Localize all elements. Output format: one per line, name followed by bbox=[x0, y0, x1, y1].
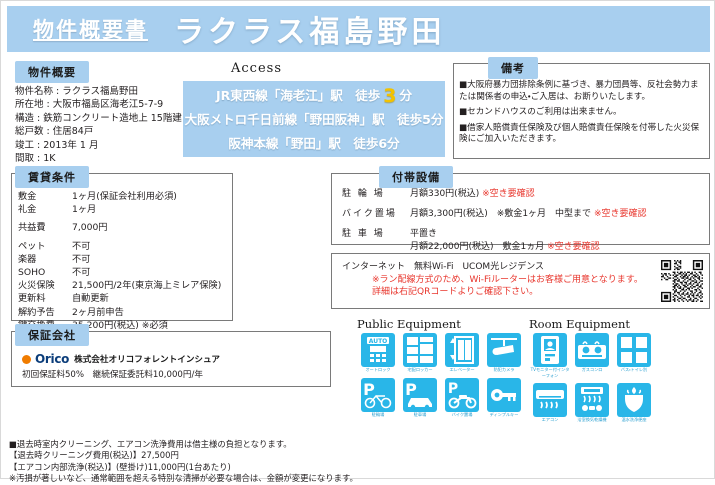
equipment-label: TVモニター付インターフォン bbox=[530, 368, 570, 379]
equipment-label: バイク置場 bbox=[442, 413, 482, 418]
orico-brand-name: Orico bbox=[35, 352, 69, 366]
facilities-table: 駐 輪 場 月額330円(税込) ※空き要確認 バイク置場 月額3,300円(税… bbox=[342, 188, 646, 261]
bicycle-parking-icon: P bbox=[361, 378, 395, 412]
section-tab-remarks: 備考 bbox=[488, 57, 538, 79]
air-conditioner-icon bbox=[533, 383, 567, 417]
row-key: 駐 輪 場 bbox=[342, 188, 410, 208]
equipment-label: 駐輪場 bbox=[358, 413, 398, 418]
page-title: ラクラス福島野田 bbox=[174, 7, 445, 51]
internet-body: インターネット 無料Wi-Fi UCOM光レジデンス ※ラン配線方式のため、Wi… bbox=[342, 261, 643, 299]
footer-line: 【退去時クリーニング費用(税込)】27,500円 bbox=[9, 450, 489, 461]
access-walk-minutes: 3 bbox=[380, 85, 399, 107]
equipment-item: エレベーター bbox=[441, 333, 483, 374]
equipment-label: 防犯カメラ bbox=[484, 368, 524, 373]
access-section: Access JR東西線「海老江」駅 徒歩3分 大阪メトロ千日前線「野田阪神」駅… bbox=[183, 61, 445, 161]
equipment-label: エレベーター bbox=[442, 368, 482, 373]
equipment-item: バス・トイレ別 bbox=[613, 333, 655, 379]
remark-item: ■大阪府暴力団排除条例に基づき、暴力団員等、反社会勢力または関係者の申込・ご入居… bbox=[459, 80, 707, 103]
equipment-item: P バイク置場 bbox=[441, 378, 483, 419]
rental-conditions-panel: 敷金 1ヶ月(保証会社利用必須) 礼金 1ヶ月 共益費 7,000円 ペット 不… bbox=[11, 173, 233, 321]
svg-text:AUTO: AUTO bbox=[369, 338, 388, 345]
row-value: 不可 bbox=[72, 253, 221, 266]
equipment-label: 駐車場 bbox=[400, 413, 440, 418]
svg-text:P: P bbox=[448, 381, 458, 397]
document-header: 物件概要書 ラクラス福島野田 bbox=[7, 6, 710, 52]
equipment-item: ディンプルキー bbox=[483, 378, 525, 419]
table-row: 共益費 7,000円 bbox=[18, 221, 221, 234]
remark-item: ■借家人賠償責任保険及び個人賠償責任保険を付帯した火災保険にご加入いただきます。 bbox=[459, 123, 707, 146]
row-value: 7,000円 bbox=[72, 221, 221, 234]
facility-note: ※空き要確認 bbox=[547, 242, 600, 252]
row-key: 楽器 bbox=[18, 253, 72, 266]
system-kitchen-icon bbox=[575, 333, 609, 367]
equipment-label: ガスコンロ bbox=[572, 368, 612, 373]
row-value: 自動更新 bbox=[72, 292, 221, 305]
overview-line: 総戸数 : 住居84戸 bbox=[15, 125, 182, 138]
access-line-1-prefix: JR東西線「海老江」駅 徒歩 bbox=[216, 88, 380, 103]
section-tab-rent: 賃貸条件 bbox=[15, 166, 89, 188]
row-key: 火災保険 bbox=[18, 279, 72, 292]
footer-notes: ■退去時室内クリーニング、エアコン洗浄費用は借主様の負担となります。 【退去時ク… bbox=[9, 439, 489, 485]
table-row: 更新料 自動更新 bbox=[18, 292, 221, 305]
separate-bath-toilet-icon bbox=[617, 333, 651, 367]
guarantee-brand-row: Orico 株式会社オリコフォレントインシュア bbox=[22, 352, 220, 366]
table-row: 楽器 不可 bbox=[18, 253, 221, 266]
svg-text:P: P bbox=[363, 380, 375, 399]
washlet-icon bbox=[617, 383, 651, 417]
orico-logo-icon bbox=[22, 355, 31, 364]
overview-line: 所在地 : 大阪市福島区海老江5-7-9 bbox=[15, 98, 182, 111]
row-key: ペット bbox=[18, 240, 72, 253]
internet-panel: インターネット 無料Wi-Fi UCOM光レジデンス ※ラン配線方式のため、Wi… bbox=[331, 253, 710, 309]
svg-text:P: P bbox=[405, 380, 417, 399]
motorcycle-parking-icon: P bbox=[445, 378, 479, 412]
access-line-2: 大阪メトロ千日前線「野田阪神」駅 徒歩5分 bbox=[183, 108, 445, 132]
table-row: バイク置場 月額3,300円(税込) ※敷金1ヶ月 中型まで ※空き要確認 bbox=[342, 208, 646, 228]
overview-line: 物件名称 : ラクラス福島野田 bbox=[15, 85, 182, 98]
row-value: 21,500円/2年(東京海上ミレア保険) bbox=[72, 279, 221, 292]
equipment-item: AUTO オートロック bbox=[357, 333, 399, 374]
row-key: 礼金 bbox=[18, 203, 72, 216]
equipment-label: 浴室換気乾燥機 bbox=[572, 418, 612, 423]
auto-lock-icon: AUTO bbox=[361, 333, 395, 367]
equipment-item: TVモニター付インターフォン bbox=[529, 333, 571, 379]
guarantee-fee: 初回保証料50% 継続保証委託料10,000円/年 bbox=[22, 368, 203, 380]
room-equipment-title: Room Equipment bbox=[529, 317, 630, 331]
row-value: 不可 bbox=[72, 266, 221, 279]
table-row: 解約予告 2ヶ月前申告 bbox=[18, 306, 221, 319]
access-line-1-suffix: 分 bbox=[400, 88, 413, 103]
equipment-item: 浴室換気乾燥機 bbox=[571, 383, 613, 424]
internet-note-1: ※ラン配線方式のため、Wi-Fiルーターはお客様ご用意となります。 bbox=[372, 274, 643, 287]
access-box: JR東西線「海老江」駅 徒歩3分 大阪メトロ千日前線「野田阪神」駅 徒歩5分 阪… bbox=[183, 81, 445, 157]
equipment-label: エアコン bbox=[530, 418, 570, 423]
facility-note: ※空き要確認 bbox=[594, 209, 647, 219]
footer-line: 【エアコン内部洗浄(税込)】(壁掛け)11,000円(1台あたり) bbox=[9, 462, 489, 473]
security-camera-icon bbox=[487, 333, 521, 367]
property-summary-sheet: 物件概要書 ラクラス福島野田 物件概要 物件名称 : ラクラス福島野田 所在地 … bbox=[0, 0, 715, 479]
dimple-key-icon bbox=[487, 378, 521, 412]
row-value: 1ヶ月(保証会社利用必須) bbox=[72, 190, 221, 203]
row-key: バイク置場 bbox=[342, 208, 410, 228]
equipment-item: ガスコンロ bbox=[571, 333, 613, 379]
remarks-list: ■大阪府暴力団排除条例に基づき、暴力団員等、反社会勢力または関係者の申込・ご入居… bbox=[459, 80, 707, 150]
guarantee-company-name: 株式会社オリコフォレントインシュア bbox=[74, 353, 220, 365]
rental-conditions-table: 敷金 1ヶ月(保証会社利用必須) 礼金 1ヶ月 共益費 7,000円 ペット 不… bbox=[18, 190, 221, 332]
section-tab-guarantee: 保証会社 bbox=[15, 324, 89, 346]
row-key: 共益費 bbox=[18, 221, 72, 234]
public-equipment-grid: AUTO オートロック 宅配ロッカー エレベー bbox=[357, 333, 525, 422]
row-key: 解約予告 bbox=[18, 306, 72, 319]
facility-price: 月額330円(税込) bbox=[410, 189, 479, 199]
access-line-3: 阪神本線「野田」駅 徒歩6分 bbox=[183, 132, 445, 156]
overview-line: 竣工 : 2013年 1 月 bbox=[15, 139, 182, 152]
equipment-item: P 駐輪場 bbox=[357, 378, 399, 419]
overview-line: 構造 : 鉄筋コンクリート造地上 15階建 bbox=[15, 112, 182, 125]
table-row: 駐 輪 場 月額330円(税込) ※空き要確認 bbox=[342, 188, 646, 208]
equipment-item: 防犯カメラ bbox=[483, 333, 525, 374]
equipment-item: 温水洗浄便座 bbox=[613, 383, 655, 424]
room-equipment-grid: TVモニター付インターフォン ガスコンロ bbox=[529, 333, 659, 428]
section-tab-facilities: 付帯設備 bbox=[379, 166, 453, 188]
equipment-item: エアコン bbox=[529, 383, 571, 424]
table-row: SOHO 不可 bbox=[18, 266, 221, 279]
facility-type: 平置き bbox=[410, 228, 646, 241]
facility-price: 月額22,000円(税込) 敷金1ヵ月 bbox=[410, 242, 544, 252]
equipment-item: P 駐車場 bbox=[399, 378, 441, 419]
overview-line: 間取 : 1K bbox=[15, 152, 182, 165]
row-value: 月額3,300円(税込) ※敷金1ヶ月 中型まで ※空き要確認 bbox=[410, 208, 646, 228]
equipment-label: ディンプルキー bbox=[484, 413, 524, 418]
row-key: 敷金 bbox=[18, 190, 72, 203]
remark-item: ■セカンドハウスのご利用は出来ません。 bbox=[459, 107, 707, 119]
equipment-item: 宅配ロッカー bbox=[399, 333, 441, 374]
access-line-1: JR東西線「海老江」駅 徒歩3分 bbox=[183, 81, 445, 108]
car-parking-icon: P bbox=[403, 378, 437, 412]
equipment-label: オートロック bbox=[358, 368, 398, 373]
qr-code bbox=[661, 260, 703, 302]
row-value: 2ヶ月前申告 bbox=[72, 306, 221, 319]
row-key: SOHO bbox=[18, 266, 72, 279]
access-title: Access bbox=[231, 61, 282, 76]
section-tab-overview: 物件概要 bbox=[15, 61, 89, 83]
table-row: ペット 不可 bbox=[18, 240, 221, 253]
facility-note: ※空き要確認 bbox=[482, 189, 535, 199]
row-value: 不可 bbox=[72, 240, 221, 253]
tv-intercom-icon bbox=[533, 333, 567, 367]
table-row: 敷金 1ヶ月(保証会社利用必須) bbox=[18, 190, 221, 203]
equipment-label: 温水洗浄便座 bbox=[614, 418, 654, 423]
document-type-label: 物件概要書 bbox=[33, 14, 148, 44]
footer-line: ■退去時室内クリーニング、エアコン洗浄費用は借主様の負担となります。 bbox=[9, 439, 489, 450]
overview-list: 物件名称 : ラクラス福島野田 所在地 : 大阪市福島区海老江5-7-9 構造 … bbox=[15, 85, 182, 165]
row-value: 月額330円(税込) ※空き要確認 bbox=[410, 188, 646, 208]
internet-label: インターネット 無料Wi-Fi UCOM光レジデンス bbox=[342, 261, 643, 274]
equipment-label: 宅配ロッカー bbox=[400, 368, 440, 373]
bath-dryer-icon bbox=[575, 383, 609, 417]
facility-price: 月額3,300円(税込) ※敷金1ヶ月 中型まで bbox=[410, 209, 591, 219]
internet-note-2: 詳細は右記QRコードよりご確認下さい。 bbox=[372, 286, 643, 299]
elevator-icon bbox=[445, 333, 479, 367]
table-row: 礼金 1ヶ月 bbox=[18, 203, 221, 216]
equipment-label: バス・トイレ別 bbox=[614, 368, 654, 373]
row-key: 更新料 bbox=[18, 292, 72, 305]
row-value: 1ヶ月 bbox=[72, 203, 221, 216]
public-equipment-title: Public Equipment bbox=[357, 317, 461, 331]
delivery-locker-icon bbox=[403, 333, 437, 367]
table-row: 火災保険 21,500円/2年(東京海上ミレア保険) bbox=[18, 279, 221, 292]
